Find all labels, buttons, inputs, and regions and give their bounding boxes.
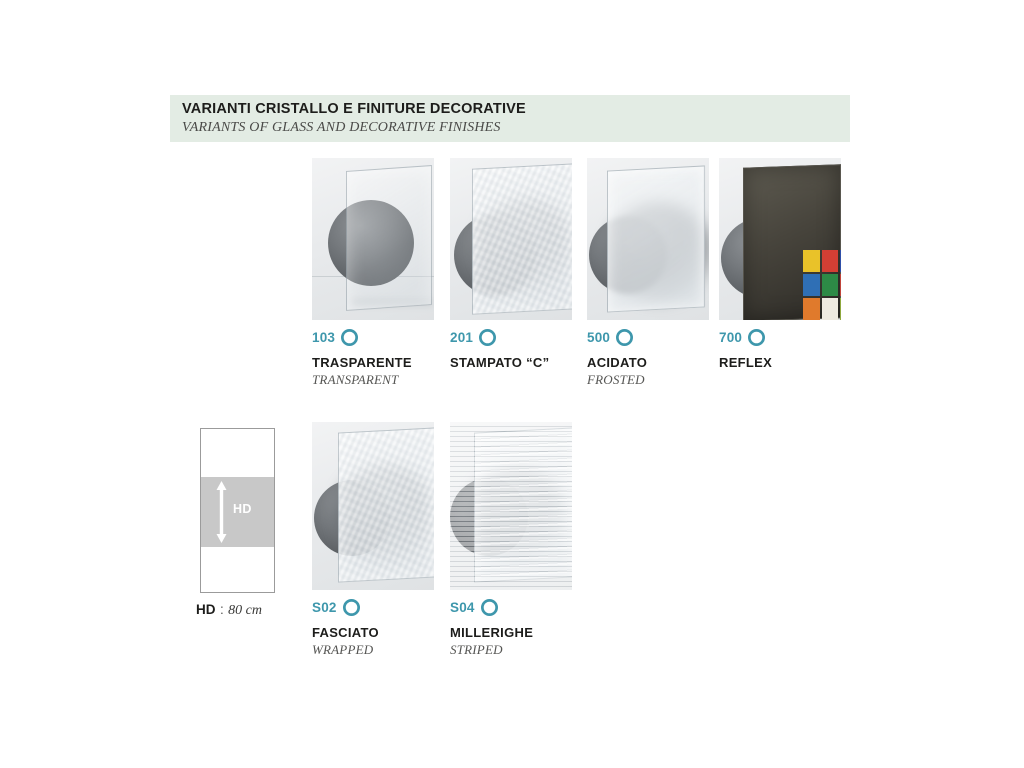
glass-sample-panel xyxy=(472,163,572,314)
glass-finish-icon xyxy=(616,329,633,346)
page-subtitle: VARIANTS OF GLASS AND DECORATIVE FINISHE… xyxy=(182,118,850,137)
glass-sample-panel xyxy=(338,427,434,582)
finish-name-it: MILLERIGHE xyxy=(450,625,572,640)
hd-band-label: HD xyxy=(233,502,252,516)
color-swatch xyxy=(840,298,841,320)
section-header-band: VARIANTI CRISTALLO E FINITURE DECORATIVE… xyxy=(170,95,850,142)
color-swatch xyxy=(840,274,841,296)
finish-name-en: FROSTED xyxy=(587,372,709,388)
finish-code: 700 xyxy=(719,330,742,345)
finish-card-trasparente[interactable]: 103 TRASPARENTE TRANSPARENT xyxy=(312,158,434,388)
finish-card-reflex[interactable]: 700 REFLEX xyxy=(719,158,841,372)
finish-name-en: STRIPED xyxy=(450,642,572,658)
page-title: VARIANTI CRISTALLO E FINITURE DECORATIVE xyxy=(182,101,850,118)
finish-card-fasciato[interactable]: S02 FASCIATO WRAPPED xyxy=(312,422,434,658)
finish-name-it: ACIDATO xyxy=(587,355,709,370)
finish-code-row: S02 xyxy=(312,598,434,616)
glass-finish-icon xyxy=(343,599,360,616)
color-swatch xyxy=(822,250,839,272)
color-swatch xyxy=(803,298,820,320)
photo-trasparente xyxy=(312,158,434,320)
glass-finish-icon xyxy=(481,599,498,616)
stamped-texture xyxy=(473,164,572,313)
finish-code: 500 xyxy=(587,330,610,345)
photo-millerighe xyxy=(450,422,572,590)
hd-caption-value: 80 cm xyxy=(228,603,262,618)
color-swatch xyxy=(822,274,839,296)
finish-name-en: TRANSPARENT xyxy=(312,372,434,388)
finish-code: S02 xyxy=(312,600,337,615)
hd-diagram: HD xyxy=(200,428,275,593)
finish-code: 201 xyxy=(450,330,473,345)
finish-name-it: REFLEX xyxy=(719,355,841,370)
finish-name-it: STAMPATO “C” xyxy=(450,355,572,370)
finish-code-row: 201 xyxy=(450,328,572,346)
ridge-overlay xyxy=(450,422,572,590)
glass-sample-panel xyxy=(607,165,705,312)
photo-stampato-c xyxy=(450,158,572,320)
finish-card-millerighe[interactable]: S04 MILLERIGHE STRIPED xyxy=(450,422,572,658)
finish-caption: S04 MILLERIGHE STRIPED xyxy=(450,598,572,658)
finish-code: S04 xyxy=(450,600,475,615)
glass-finish-icon xyxy=(479,329,496,346)
hd-caption-separator: : xyxy=(220,602,224,617)
finish-caption: 103 TRASPARENTE TRANSPARENT xyxy=(312,328,434,388)
wrapped-texture xyxy=(339,428,434,581)
hd-double-arrow-icon xyxy=(215,481,228,543)
finish-code-row: 103 xyxy=(312,328,434,346)
glass-sample-panel xyxy=(346,165,432,311)
glass-finish-icon xyxy=(341,329,358,346)
finish-name-en: WRAPPED xyxy=(312,642,434,658)
finish-code-row: 500 xyxy=(587,328,709,346)
color-checker xyxy=(803,250,841,320)
finish-caption: S02 FASCIATO WRAPPED xyxy=(312,598,434,658)
finish-card-acidato[interactable]: 500 ACIDATO FROSTED xyxy=(587,158,709,388)
finish-code-row: 700 xyxy=(719,328,841,346)
color-swatch xyxy=(803,274,820,296)
hd-caption: HD : 80 cm xyxy=(196,601,262,619)
photo-fasciato xyxy=(312,422,434,590)
photo-acidato xyxy=(587,158,709,320)
finish-caption: 700 REFLEX xyxy=(719,328,841,370)
finish-card-stampato-c[interactable]: 201 STAMPATO “C” xyxy=(450,158,572,372)
finish-name-it: FASCIATO xyxy=(312,625,434,640)
color-swatch xyxy=(840,250,841,272)
finish-caption: 201 STAMPATO “C” xyxy=(450,328,572,370)
hd-caption-key: HD xyxy=(196,602,216,617)
color-swatch xyxy=(803,250,820,272)
glass-finish-icon xyxy=(748,329,765,346)
finish-caption: 500 ACIDATO FROSTED xyxy=(587,328,709,388)
photo-reflex xyxy=(719,158,841,320)
color-swatch xyxy=(822,298,839,320)
finish-code-row: S04 xyxy=(450,598,572,616)
finish-code: 103 xyxy=(312,330,335,345)
finish-name-it: TRASPARENTE xyxy=(312,355,434,370)
